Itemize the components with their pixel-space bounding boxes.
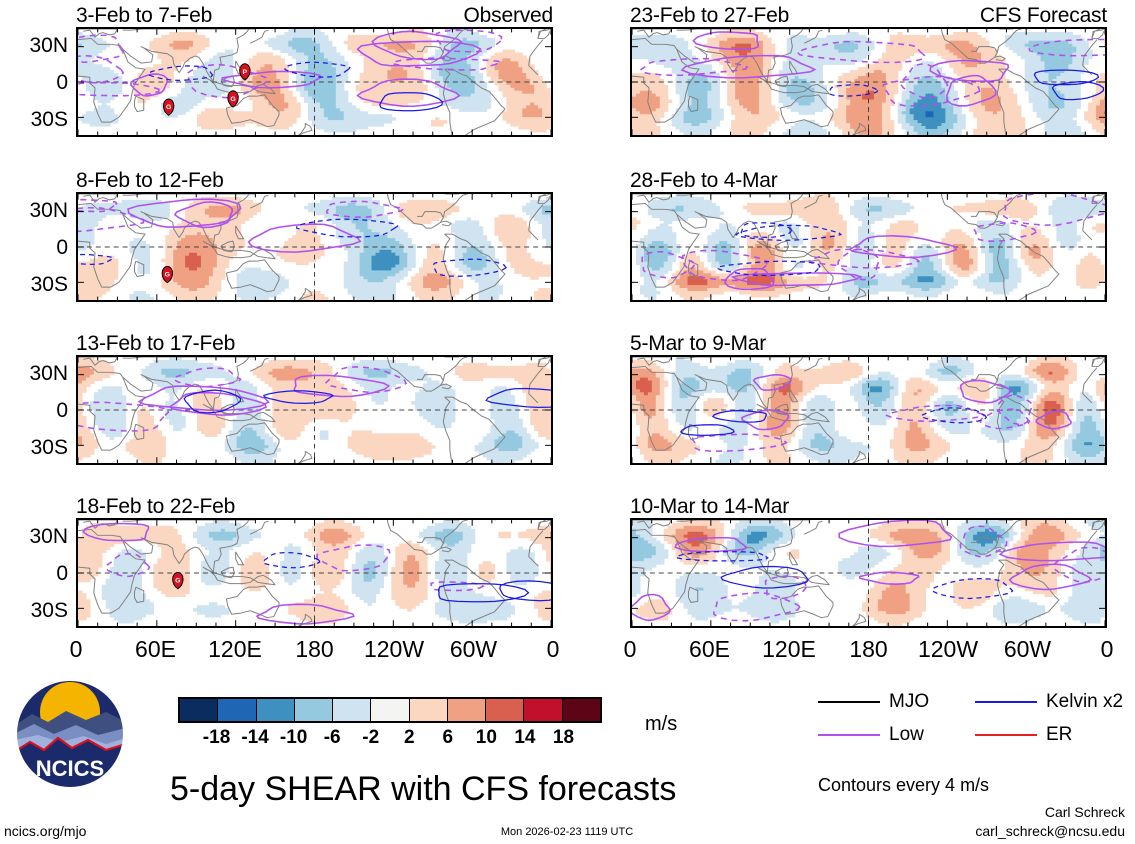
x-tick-label: 120E bbox=[208, 638, 262, 661]
panel-title: 3-Feb to 7-Feb bbox=[76, 5, 212, 26]
colorbar-swatch-5 bbox=[371, 699, 409, 721]
colorbar bbox=[178, 697, 602, 723]
colorbar-tick: 2 bbox=[404, 728, 415, 747]
legend-label: Kelvin x2 bbox=[1046, 692, 1123, 711]
svg-text:G: G bbox=[230, 96, 235, 103]
figure-canvas: 3-Feb to 7-FebObservedGPG8-Feb to 12-Feb… bbox=[0, 0, 1135, 844]
svg-text:P: P bbox=[243, 69, 248, 76]
map-axes bbox=[630, 355, 1107, 465]
panel-obs-4: 18-Feb to 22-FebG bbox=[76, 518, 553, 628]
colorbar-tick: -18 bbox=[203, 728, 230, 747]
panel-obs-1: 3-Feb to 7-FebObservedGPG bbox=[76, 27, 553, 137]
contour-interval-note: Contours every 4 m/s bbox=[818, 776, 989, 794]
storm-marker: G bbox=[228, 91, 238, 107]
svg-text:G: G bbox=[166, 104, 171, 111]
figure-title: 5-day SHEAR with CFS forecasts bbox=[170, 772, 676, 806]
legend-item-er: ER bbox=[975, 725, 1072, 744]
x-tick-label: 0 bbox=[624, 638, 637, 661]
y-tick-label: 30N bbox=[0, 526, 68, 547]
panel-title: 13-Feb to 17-Feb bbox=[76, 333, 235, 354]
legend-swatch bbox=[975, 734, 1037, 736]
panel-title: 18-Feb to 22-Feb bbox=[76, 496, 235, 517]
colorbar-tick: 10 bbox=[476, 728, 497, 747]
x-tick-label: 0 bbox=[1101, 638, 1114, 661]
panel-obs-3: 13-Feb to 17-Feb bbox=[76, 355, 553, 465]
colorbar-swatch-8 bbox=[486, 699, 524, 721]
map-axes: G bbox=[76, 192, 553, 302]
x-tick-label: 120W bbox=[918, 638, 978, 661]
x-tick-label: 120E bbox=[762, 638, 816, 661]
colorbar-swatch-0 bbox=[180, 699, 218, 721]
y-tick-label: 30S bbox=[0, 109, 68, 130]
colorbar-swatch-7 bbox=[448, 699, 486, 721]
x-tick-label: 60W bbox=[1004, 638, 1051, 661]
colorbar-swatch-1 bbox=[218, 699, 256, 721]
y-tick-label: 30N bbox=[0, 35, 68, 56]
colorbar-units: m/s bbox=[645, 714, 677, 734]
panel-fcs-2: 28-Feb to 4-Mar bbox=[630, 192, 1107, 302]
colorbar-tick: -6 bbox=[324, 728, 341, 747]
map-axes bbox=[630, 27, 1107, 137]
legend-item-mjo: MJO bbox=[818, 692, 929, 711]
panel-fcs-1: 23-Feb to 27-FebCFS Forecast bbox=[630, 27, 1107, 137]
map-axes bbox=[630, 192, 1107, 302]
map-axes: GPG bbox=[76, 27, 553, 137]
colorbar-tick: -14 bbox=[241, 728, 268, 747]
x-tick-label: 120W bbox=[364, 638, 424, 661]
panel-title: 23-Feb to 27-Feb bbox=[630, 5, 789, 26]
colorbar-tick: 18 bbox=[553, 728, 574, 747]
legend-item-kelvin-x2: Kelvin x2 bbox=[975, 692, 1123, 711]
y-tick-label: 30S bbox=[0, 437, 68, 458]
y-tick-label: 0 bbox=[0, 237, 68, 258]
author-email: carl_schreck@ncsu.edu bbox=[975, 824, 1125, 838]
y-tick-label: 30N bbox=[0, 363, 68, 384]
x-tick-label: 60E bbox=[689, 638, 730, 661]
panel-fcs-3: 5-Mar to 9-Mar bbox=[630, 355, 1107, 465]
x-tick-label: 0 bbox=[547, 638, 560, 661]
column-header: Observed bbox=[464, 5, 553, 26]
site-url: ncics.org/mjo bbox=[4, 824, 86, 838]
y-tick-label: 0 bbox=[0, 72, 68, 93]
author-name: Carl Schreck bbox=[1045, 805, 1125, 819]
x-tick-label: 60E bbox=[135, 638, 176, 661]
panel-obs-2: 8-Feb to 12-FebG bbox=[76, 192, 553, 302]
legend-label: Low bbox=[889, 725, 924, 744]
y-tick-label: 30S bbox=[0, 600, 68, 621]
x-tick-label: 60W bbox=[450, 638, 497, 661]
y-tick-label: 30S bbox=[0, 274, 68, 295]
column-header: CFS Forecast bbox=[980, 5, 1107, 26]
legend-swatch bbox=[818, 734, 880, 736]
legend-swatch bbox=[975, 701, 1037, 703]
map-axes bbox=[76, 355, 553, 465]
x-tick-label: 0 bbox=[70, 638, 83, 661]
panel-fcs-4: 10-Mar to 14-Mar bbox=[630, 518, 1107, 628]
panel-title: 8-Feb to 12-Feb bbox=[76, 170, 224, 191]
colorbar-swatch-10 bbox=[563, 699, 600, 721]
panel-title: 5-Mar to 9-Mar bbox=[630, 333, 766, 354]
colorbar-swatch-6 bbox=[410, 699, 448, 721]
colorbar-swatch-3 bbox=[295, 699, 333, 721]
y-tick-label: 0 bbox=[0, 563, 68, 584]
y-tick-label: 0 bbox=[0, 400, 68, 421]
colorbar-tick: -10 bbox=[280, 728, 307, 747]
x-tick-label: 180 bbox=[849, 638, 887, 661]
generation-timestamp: Mon 2026-02-23 1119 UTC bbox=[501, 827, 633, 838]
ncics-logo: NCICS bbox=[14, 678, 126, 790]
legend-label: ER bbox=[1046, 725, 1072, 744]
colorbar-swatch-9 bbox=[524, 699, 562, 721]
colorbar-tick: -2 bbox=[362, 728, 379, 747]
panel-title: 10-Mar to 14-Mar bbox=[630, 496, 789, 517]
map-axes bbox=[630, 518, 1107, 628]
colorbar-tick: 6 bbox=[443, 728, 454, 747]
legend-item-low: Low bbox=[818, 725, 924, 744]
colorbar-tick: 14 bbox=[514, 728, 535, 747]
panel-title: 28-Feb to 4-Mar bbox=[630, 170, 778, 191]
map-axes: G bbox=[76, 518, 553, 628]
x-tick-label: 180 bbox=[295, 638, 333, 661]
legend-swatch bbox=[818, 701, 880, 703]
colorbar-swatch-4 bbox=[333, 699, 371, 721]
legend-label: MJO bbox=[889, 692, 929, 711]
y-tick-label: 30N bbox=[0, 200, 68, 221]
colorbar-swatch-2 bbox=[257, 699, 295, 721]
